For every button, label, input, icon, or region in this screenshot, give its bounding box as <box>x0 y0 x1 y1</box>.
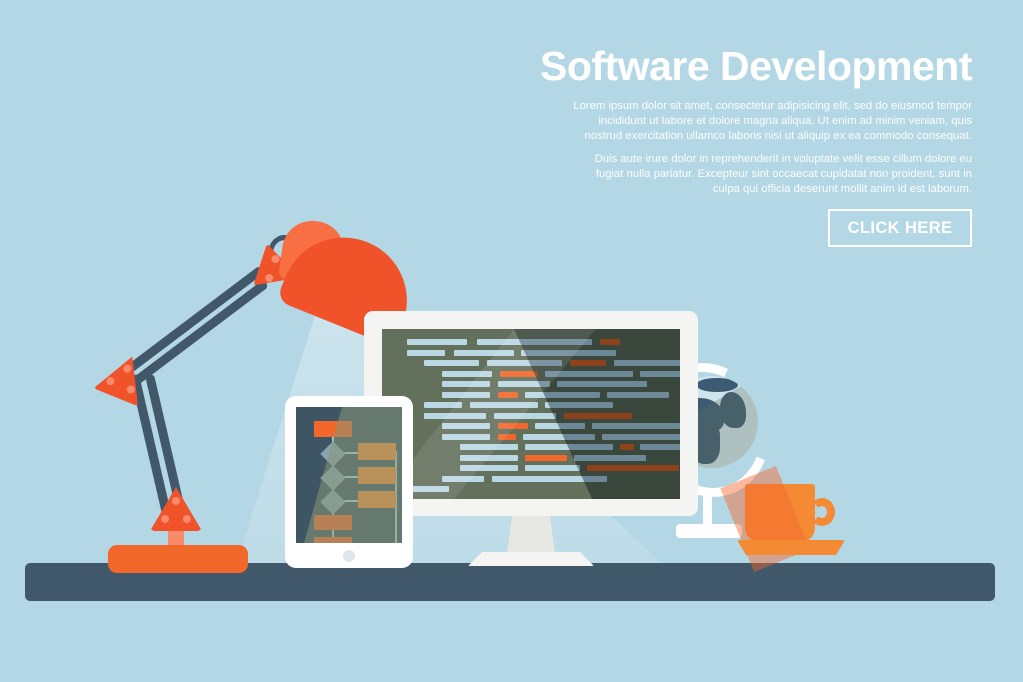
code-line-segment <box>592 423 680 429</box>
code-line-segment <box>487 360 562 366</box>
flowchart-decision-node <box>320 465 345 490</box>
code-line-segment <box>545 371 633 377</box>
tablet-home-button[interactable] <box>343 550 355 562</box>
flowchart-process-node <box>358 443 396 460</box>
code-line-segment <box>407 350 445 356</box>
monitor-neck <box>507 516 555 554</box>
code-line-segment <box>470 402 538 408</box>
coffee-cup <box>737 484 845 564</box>
code-line-segment <box>477 339 592 345</box>
flowchart-process-node <box>358 491 396 508</box>
code-line-segment <box>442 371 492 377</box>
flowchart-connector <box>332 530 334 537</box>
flowchart-process-node <box>314 515 352 530</box>
hero-paragraph-2: Duis aute irure dolor in reprehenderit i… <box>572 152 972 197</box>
hero-paragraph-1: Lorem ipsum dolor sit amet, consectetur … <box>572 99 972 144</box>
monitor-screen <box>382 329 680 499</box>
flowchart-process-node <box>314 421 352 437</box>
monitor-bezel <box>364 311 698 516</box>
code-line-segment <box>424 360 479 366</box>
code-line-segment <box>614 360 680 366</box>
code-line-segment <box>460 444 518 450</box>
code-line-segment <box>525 455 567 461</box>
code-line-segment <box>442 392 490 398</box>
tablet-screen <box>296 407 402 543</box>
tablet-flowchart <box>285 396 413 568</box>
code-line-segment <box>498 392 518 398</box>
globe-base <box>676 524 742 538</box>
code-line-segment <box>525 392 600 398</box>
code-line-segment <box>574 455 646 461</box>
code-line-segment <box>498 381 550 387</box>
code-line-segment <box>460 455 518 461</box>
flowchart-decision-node <box>320 489 345 514</box>
code-line-segment <box>640 444 680 450</box>
code-line-segment <box>454 350 514 356</box>
code-line-segment <box>602 434 680 440</box>
code-line-segment <box>424 413 486 419</box>
monitor-code-editor <box>364 311 698 516</box>
code-line-segment <box>640 371 680 377</box>
code-line-segment <box>424 402 462 408</box>
code-line-segment <box>498 434 516 440</box>
code-line-segment <box>521 350 616 356</box>
lamp-base-joint <box>150 487 202 531</box>
code-line-segment <box>564 413 632 419</box>
globe-continent-3 <box>720 392 746 428</box>
code-line-segment <box>525 465 580 471</box>
click-here-button[interactable]: CLICK HERE <box>828 209 972 247</box>
code-line-segment <box>492 476 607 482</box>
globe-continent-4 <box>696 378 738 392</box>
code-line-segment <box>442 423 490 429</box>
code-line-segment <box>442 381 490 387</box>
code-line-segment <box>494 413 556 419</box>
code-line-segment <box>442 434 490 440</box>
cup-saucer <box>737 540 845 555</box>
code-line-segment <box>407 486 449 492</box>
flowchart-process-node <box>314 537 352 543</box>
code-line-segment <box>570 360 606 366</box>
cup-body <box>745 484 815 542</box>
code-line-segment <box>523 434 595 440</box>
code-line-segment <box>525 444 613 450</box>
code-line-segment <box>620 444 634 450</box>
flowchart-process-node <box>358 467 396 484</box>
page-title: Software Development <box>440 44 972 89</box>
code-line-segment <box>460 465 518 471</box>
illustration-canvas: Software Development Lorem ipsum dolor s… <box>0 0 1023 682</box>
code-line-segment <box>607 392 669 398</box>
code-line-segment <box>557 381 647 387</box>
code-line-segment <box>587 465 679 471</box>
code-line-segment <box>600 339 620 345</box>
code-line-segment <box>407 339 467 345</box>
flowchart-decision-node <box>320 441 345 466</box>
code-line-segment <box>535 423 585 429</box>
lamp-base <box>108 545 248 573</box>
code-line-segment <box>500 371 538 377</box>
monitor-base <box>468 552 594 566</box>
code-line-segment <box>545 402 613 408</box>
code-line-segment <box>442 476 484 482</box>
code-line-segment <box>498 423 528 429</box>
